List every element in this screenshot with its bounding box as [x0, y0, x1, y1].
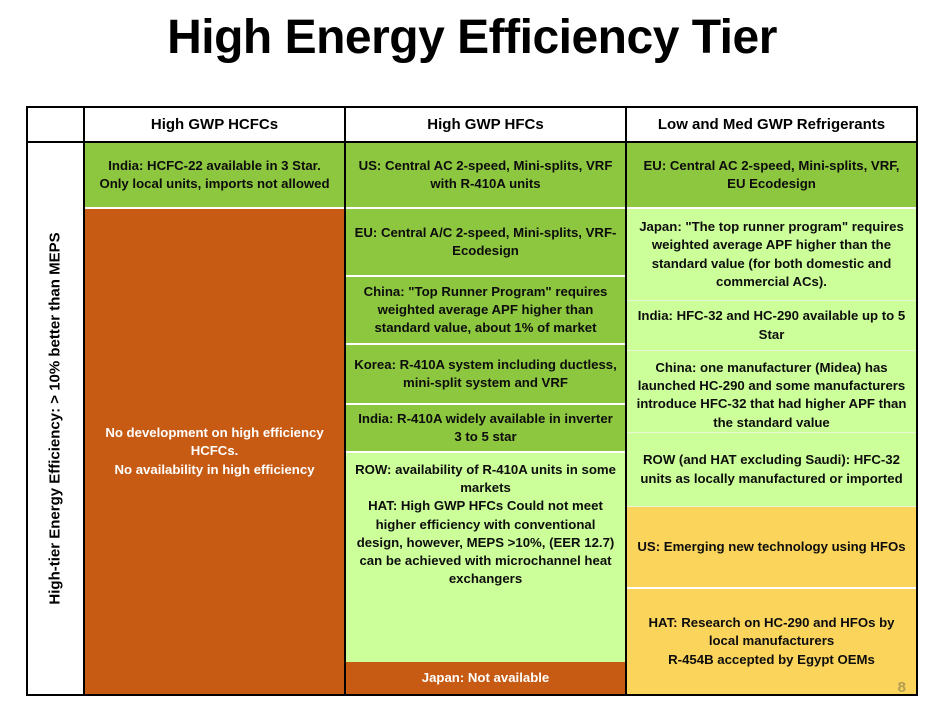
column-header-low-med-gwp-refrigerants: Low and Med GWP Refrigerants [627, 108, 916, 141]
cell-hfc-india: India: R-410A widely available in invert… [346, 405, 625, 453]
column-header-high-gwp-hcfcs: High GWP HCFCs [85, 108, 346, 141]
cell-hcfc-india: India: HCFC-22 available in 3 Star. Only… [85, 143, 344, 209]
row-axis-label: High-tier Energy Efficiency: > 10% bette… [47, 232, 64, 604]
table-header-corner [28, 108, 85, 141]
table-body: High-tier Energy Efficiency: > 10% bette… [28, 143, 916, 694]
cell-hfc-china: China: "Top Runner Program" requires wei… [346, 277, 625, 345]
cell-lowgwp-india: India: HFC-32 and HC-290 available up to… [627, 301, 916, 351]
column-low-med-gwp-refrigerants: EU: Central AC 2-speed, Mini-splits, VRF… [627, 143, 916, 694]
cell-hfc-row-hat: ROW: availability of R-410A units in som… [346, 453, 625, 662]
cell-hfc-us: US: Central AC 2-speed, Mini-splits, VRF… [346, 143, 625, 209]
cell-hfc-eu: EU: Central A/C 2-speed, Mini-splits, VR… [346, 209, 625, 277]
cell-hfc-japan: Japan: Not available [346, 662, 625, 694]
cell-lowgwp-japan: Japan: "The top runner program" requires… [627, 209, 916, 301]
cell-hcfc-no-development: No development on high efficiency HCFCs.… [85, 209, 344, 694]
table-header-row: High GWP HCFCs High GWP HFCs Low and Med… [28, 108, 916, 143]
page-title: High Energy Efficiency Tier [0, 12, 944, 65]
row-axis-label-cell: High-tier Energy Efficiency: > 10% bette… [28, 143, 85, 694]
column-high-gwp-hcfcs: India: HCFC-22 available in 3 Star. Only… [85, 143, 346, 694]
column-high-gwp-hfcs: US: Central AC 2-speed, Mini-splits, VRF… [346, 143, 627, 694]
cell-lowgwp-china: China: one manufacturer (Midea) has laun… [627, 351, 916, 433]
cell-lowgwp-row-hat: ROW (and HAT excluding Saudi): HFC-32 un… [627, 433, 916, 507]
cell-lowgwp-eu: EU: Central AC 2-speed, Mini-splits, VRF… [627, 143, 916, 209]
cell-lowgwp-us: US: Emerging new technology using HFOs [627, 507, 916, 589]
efficiency-tier-table: High GWP HCFCs High GWP HFCs Low and Med… [26, 106, 918, 696]
cell-hfc-korea: Korea: R-410A system including ductless,… [346, 345, 625, 405]
cell-lowgwp-hat: HAT: Research on HC-290 and HFOs by loca… [627, 589, 916, 694]
page-number: 8 [898, 679, 906, 696]
column-header-high-gwp-hfcs: High GWP HFCs [346, 108, 627, 141]
